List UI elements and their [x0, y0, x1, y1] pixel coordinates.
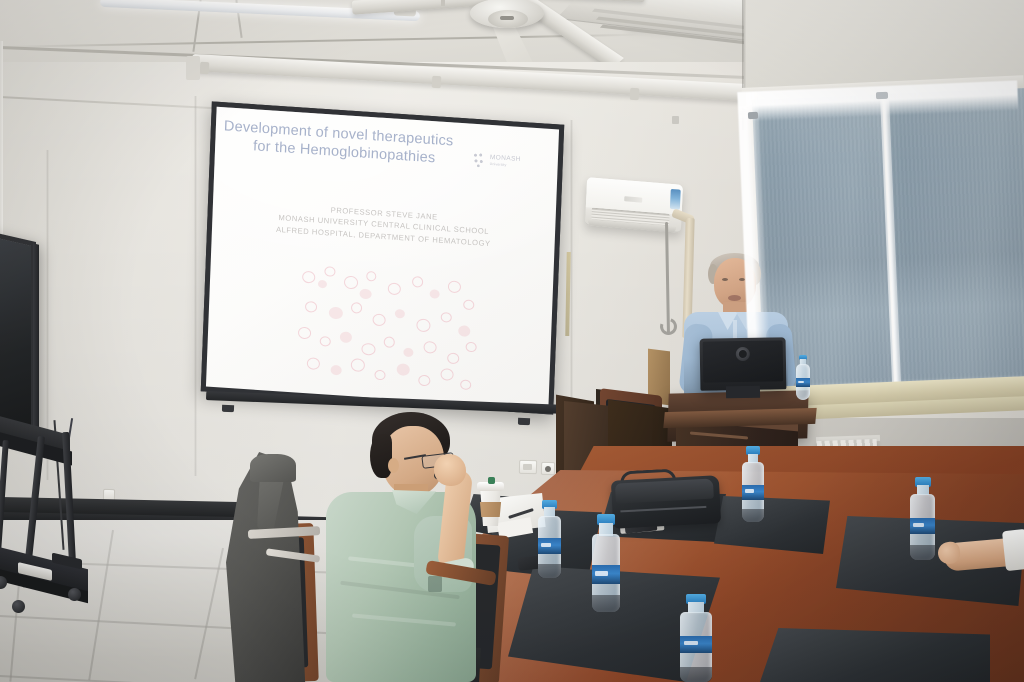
air-conditioner-label-sticker: [670, 189, 681, 210]
display-screen: [0, 236, 31, 432]
bottle-base-shadow: [592, 595, 620, 612]
bottle-label: [910, 518, 935, 535]
water-bottle[interactable]: [680, 612, 712, 682]
laptop-bag-zipper: [620, 506, 706, 512]
monitor-stand: [726, 386, 760, 399]
water-bottle[interactable]: [538, 516, 561, 578]
bottle-label: [680, 636, 712, 653]
water-bottle[interactable]: [796, 364, 810, 400]
bottle-base-shadow: [680, 667, 712, 682]
attendee-ear: [388, 458, 399, 473]
ceiling-fan-downrod: [441, 0, 445, 6]
attendee-pocket-detail: [428, 576, 442, 592]
bottle-base-shadow: [742, 509, 764, 522]
bottle-base-shadow: [538, 564, 561, 578]
screen-tab: [222, 405, 234, 412]
bottle-label: [538, 538, 561, 554]
cart-caster-wheel: [68, 588, 81, 601]
roller-mount: [630, 88, 640, 100]
roller-end-bracket: [186, 56, 200, 80]
monash-wordmark: MONASH University: [490, 155, 521, 169]
blind-bracket: [876, 92, 888, 99]
dell-monitor[interactable]: [700, 337, 787, 390]
bottle-label: [592, 565, 620, 584]
seminar-room-photograph: MITSUBISHI ELECTRIC Development of novel…: [0, 0, 1024, 682]
cart-caster-wheel: [12, 600, 25, 613]
projection-screen: Development of novel therapeutics for th…: [201, 101, 564, 414]
seated-attendee: [330, 412, 520, 682]
display-bezel-edge: [33, 243, 39, 430]
wall-outlet-socket: [545, 466, 551, 472]
suit-jacket-collar: [250, 454, 296, 482]
attendee-hand: [434, 454, 466, 486]
water-bottle[interactable]: [910, 494, 935, 560]
bottle-label: [796, 378, 810, 387]
desk-pad: [760, 628, 990, 682]
attendee-hair-side: [370, 434, 392, 478]
laptop-bag-flap: [615, 479, 714, 504]
roller-mount: [432, 76, 442, 88]
flat-panel-display[interactable]: [0, 230, 36, 438]
presenter-eye: [739, 278, 745, 281]
wall-fixture-box: [672, 116, 679, 124]
water-bottle[interactable]: [592, 534, 620, 612]
presenter-eye: [722, 278, 728, 281]
monash-shield-icon: [472, 151, 487, 169]
ceiling-fan-hub-detail: [500, 16, 514, 20]
presenter-mouth: [728, 295, 741, 301]
bottle-label: [742, 485, 764, 500]
projected-slide: Development of novel therapeutics for th…: [206, 107, 559, 410]
wall-outlet-socket: [523, 464, 532, 470]
bottle-base-shadow: [910, 545, 935, 560]
water-bottle[interactable]: [742, 462, 764, 522]
air-conditioner-icon: [585, 177, 683, 233]
laptop-bag[interactable]: [611, 475, 721, 529]
roller-mount: [200, 62, 210, 74]
attendee-sleeve: [1002, 529, 1024, 571]
blind-bracket: [748, 112, 758, 119]
wall-joint: [194, 96, 197, 476]
blood-smear-graphic: [292, 262, 486, 400]
monash-wordmark-sub: University: [490, 161, 521, 169]
